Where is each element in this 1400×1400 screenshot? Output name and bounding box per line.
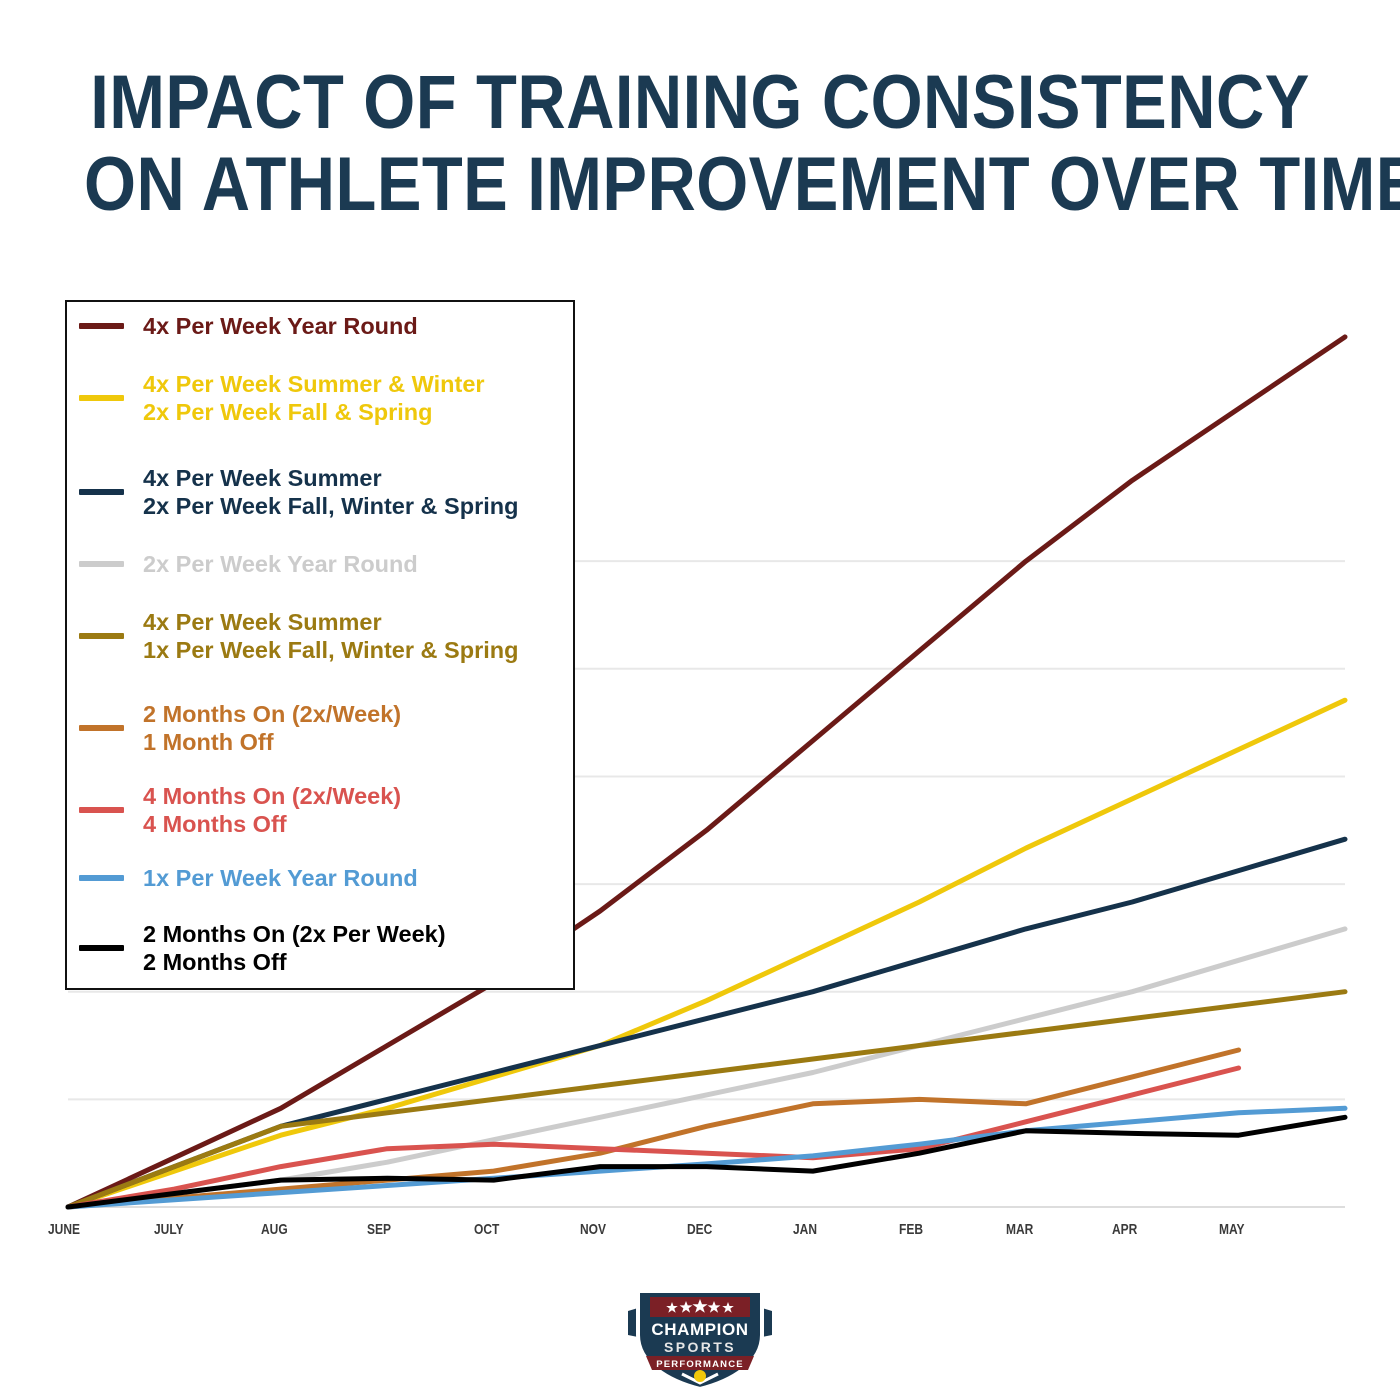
legend-color-swatch	[79, 323, 124, 329]
legend-item[interactable]: 4x Per Week Year Round	[67, 312, 573, 340]
legend-item[interactable]: 2x Per Week Year Round	[67, 550, 573, 578]
legend-item-label: 1x Per Week Year Round	[143, 864, 418, 892]
legend-color-swatch	[79, 561, 124, 567]
legend-color-swatch	[79, 395, 124, 401]
series-line	[68, 1108, 1345, 1207]
legend-item-label: 2 Months On (2x/Week) 1 Month Off	[143, 700, 401, 756]
x-axis-tick-label: APR	[1112, 1221, 1137, 1238]
legend-color-swatch	[79, 945, 124, 951]
legend-item[interactable]: 4x Per Week Summer 1x Per Week Fall, Win…	[67, 608, 573, 664]
x-axis-tick-label: AUG	[261, 1221, 288, 1238]
chart-legend: 4x Per Week Year Round4x Per Week Summer…	[65, 300, 575, 990]
legend-color-swatch	[79, 489, 124, 495]
legend-item-label: 2x Per Week Year Round	[143, 550, 418, 578]
legend-item[interactable]: 4x Per Week Summer 2x Per Week Fall, Win…	[67, 464, 573, 520]
x-axis-tick-labels: JUNEJULYAUGSEPOCTNOVDECJANFEBMARAPRMAY	[0, 1221, 1400, 1245]
x-axis-tick-label: JAN	[793, 1221, 817, 1238]
x-axis-tick-label: SEP	[367, 1221, 391, 1238]
x-axis-tick-label: DEC	[687, 1221, 712, 1238]
legend-item-label: 2 Months On (2x Per Week) 2 Months Off	[143, 920, 446, 976]
x-axis-tick-label: FEB	[899, 1221, 923, 1238]
legend-item-label: 4x Per Week Summer 2x Per Week Fall, Win…	[143, 464, 518, 520]
legend-color-swatch	[79, 725, 124, 731]
legend-item[interactable]: 4x Per Week Summer & Winter 2x Per Week …	[67, 370, 573, 426]
x-axis-tick-label: NOV	[580, 1221, 606, 1238]
x-axis-tick-label: MAR	[1006, 1221, 1033, 1238]
x-axis-tick-label: JUNE	[48, 1221, 80, 1238]
legend-color-swatch	[79, 875, 124, 881]
x-axis-tick-label: JULY	[154, 1221, 184, 1238]
legend-item[interactable]: 2 Months On (2x Per Week) 2 Months Off	[67, 920, 573, 976]
legend-color-swatch	[79, 807, 124, 813]
logo-brand-line-2: SPORTS	[664, 1339, 736, 1355]
legend-item[interactable]: 1x Per Week Year Round	[67, 864, 573, 892]
legend-color-swatch	[79, 633, 124, 639]
legend-item-label: 4x Per Week Year Round	[143, 312, 418, 340]
legend-item-label: 4x Per Week Summer 1x Per Week Fall, Win…	[143, 608, 518, 664]
x-axis-tick-label: MAY	[1219, 1221, 1245, 1238]
legend-item-label: 4x Per Week Summer & Winter 2x Per Week …	[143, 370, 485, 426]
logo-shield-icon: CHAMPION SPORTS PERFORMANCE	[620, 1277, 780, 1393]
legend-item[interactable]: 2 Months On (2x/Week) 1 Month Off	[67, 700, 573, 756]
legend-item-label: 4 Months On (2x/Week) 4 Months Off	[143, 782, 401, 838]
legend-item[interactable]: 4 Months On (2x/Week) 4 Months Off	[67, 782, 573, 838]
x-axis-tick-label: OCT	[474, 1221, 499, 1238]
logo-brand-line-3: PERFORMANCE	[656, 1359, 744, 1370]
logo-brand-line-1: CHAMPION	[651, 1320, 748, 1339]
champion-sports-performance-logo: CHAMPION SPORTS PERFORMANCE	[620, 1277, 780, 1393]
